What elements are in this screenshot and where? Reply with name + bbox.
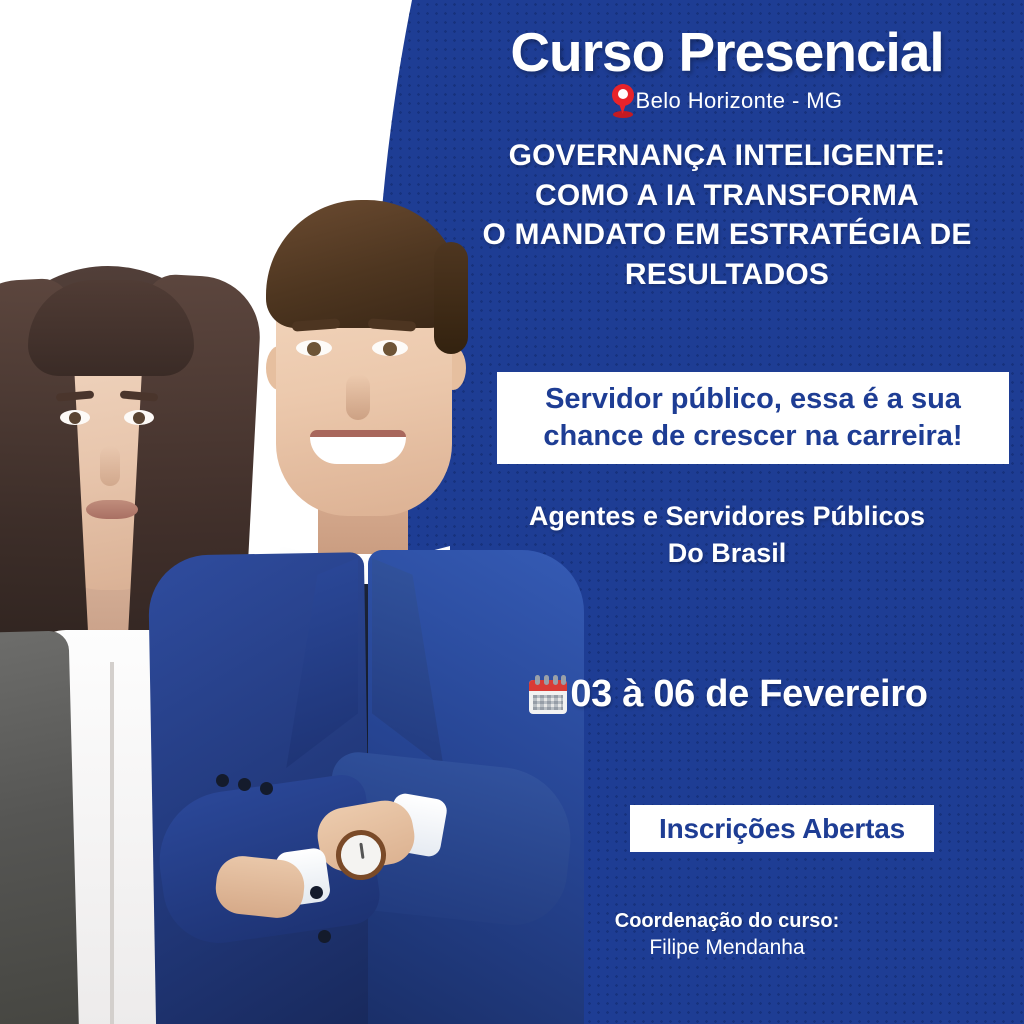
calendar-ring xyxy=(544,675,549,685)
woman-nose xyxy=(100,446,120,486)
highlight-line-2: chance de crescer na carreira! xyxy=(543,418,962,455)
audience-line-2: Do Brasil xyxy=(430,535,1024,572)
enrollment-cta-button[interactable]: Inscrições Abertas xyxy=(630,805,934,852)
location-line: Belo Horizonte - MG xyxy=(430,84,1024,118)
headline-line-4: RESULTADOS xyxy=(440,255,1014,295)
coordinator-name: Filipe Mendanha xyxy=(430,934,1024,961)
calendar-icon xyxy=(526,672,570,716)
target-audience: Agentes e Servidores Públicos Do Brasil xyxy=(430,498,1024,571)
audience-line-1: Agentes e Servidores Públicos xyxy=(430,498,1024,535)
cta-label: Inscrições Abertas xyxy=(659,813,905,845)
woman-lips xyxy=(86,500,138,519)
man-eye-right xyxy=(372,340,408,356)
calendar-ring xyxy=(535,675,540,685)
highlight-line-1: Servidor público, essa é a sua xyxy=(545,381,961,418)
location-pin-icon xyxy=(612,84,634,118)
course-promo-poster: Curso Presencial Belo Horizonte - MG GOV… xyxy=(0,0,1024,1024)
poster-title: Curso Presencial xyxy=(430,20,1024,84)
woman-eye-left xyxy=(60,410,90,425)
man-jacket-button xyxy=(260,782,273,795)
man-nose xyxy=(346,374,370,420)
man-jacket-button xyxy=(318,930,331,943)
calendar-ring xyxy=(553,675,558,685)
highlight-message-box: Servidor público, essa é a sua chance de… xyxy=(497,372,1009,464)
course-date-row: 03 à 06 de Fevereiro xyxy=(430,672,1024,716)
headline-line-3: O MANDATO EM ESTRATÉGIA DE xyxy=(440,215,1014,255)
course-coordination-footer: Coordenação do curso: Filipe Mendanha xyxy=(430,908,1024,961)
coordination-label: Coordenação do curso: xyxy=(430,908,1024,934)
woman-grey-blazer-left xyxy=(0,630,79,1024)
man-smile xyxy=(310,430,406,464)
headline-line-1: GOVERNANÇA INTELIGENTE: xyxy=(440,136,1014,176)
pin-head xyxy=(612,84,634,106)
man-eye-left xyxy=(296,340,332,356)
location-text: Belo Horizonte - MG xyxy=(636,88,843,114)
calendar-grid xyxy=(533,695,563,710)
course-date-text: 03 à 06 de Fevereiro xyxy=(570,673,927,716)
calendar-ring xyxy=(561,675,566,685)
man-jacket-button xyxy=(310,886,323,899)
man-jacket-button xyxy=(238,778,251,791)
poster-content-column: Curso Presencial Belo Horizonte - MG GOV… xyxy=(430,0,1024,1024)
course-headline: GOVERNANÇA INTELIGENTE: COMO A IA TRANSF… xyxy=(440,136,1014,294)
headline-line-2: COMO A IA TRANSFORMA xyxy=(440,176,1014,216)
woman-blouse-placket xyxy=(110,662,114,1024)
man-jacket-button xyxy=(216,774,229,787)
